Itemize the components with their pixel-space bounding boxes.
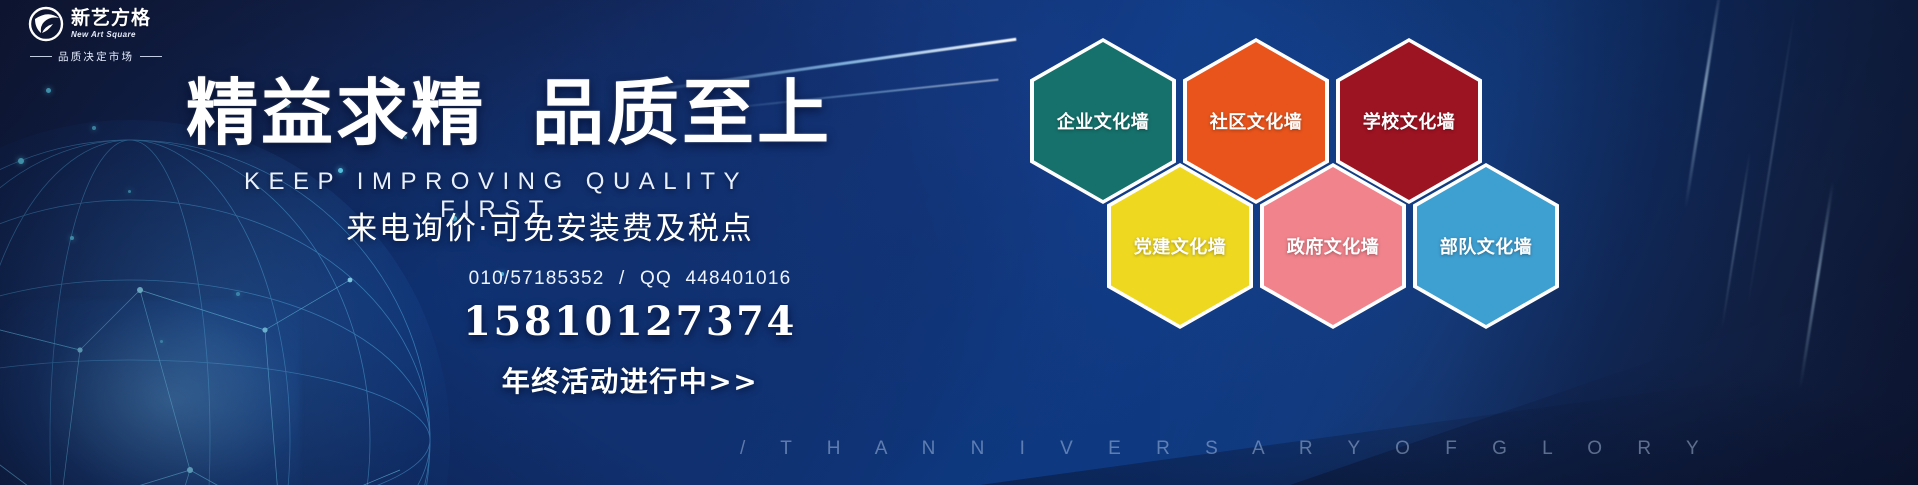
mobile-number: 15810127374: [400, 298, 860, 345]
contact-line: 010/57185352 / QQ 448401016: [400, 268, 860, 290]
brand-name-en: New Art Square: [71, 30, 151, 39]
headline: 精益求精 品质至上: [186, 77, 832, 149]
headline-part-1: 精益求精: [186, 77, 486, 149]
brand-logo[interactable]: 新艺方格 New Art Square 品质决定市场: [28, 6, 178, 64]
light-streak: [1747, 12, 1796, 309]
light-streak: [1799, 181, 1835, 389]
category-label: 企业文化墙: [1057, 108, 1150, 134]
tagline-rule-right: [140, 56, 162, 57]
promo-banner: 新艺方格 New Art Square 品质决定市场 精益求精 品质至上 KEE…: [0, 0, 1918, 485]
globe-swoosh-logo-icon: [28, 6, 64, 42]
brand-tagline: 品质决定市场: [28, 49, 178, 64]
tagline-text: 品质决定市场: [58, 49, 134, 64]
headline-subtitle-cn: 来电询价·可免安装费及税点: [300, 203, 800, 248]
qq-label: QQ: [640, 268, 672, 289]
category-label: 社区文化墙: [1210, 108, 1303, 134]
qq-number: 448401016: [685, 268, 791, 289]
light-streak: [1684, 0, 1723, 209]
tagline-rule-left: [30, 56, 52, 57]
category-label: 政府文化墙: [1287, 233, 1380, 259]
category-label: 部队文化墙: [1440, 233, 1533, 259]
category-label: 学校文化墙: [1363, 108, 1456, 134]
landline-number: 010/57185352: [469, 268, 605, 289]
contact-separator: /: [619, 268, 625, 289]
headline-part-2: 品质至上: [532, 77, 832, 149]
brand-name-cn: 新艺方格: [71, 9, 151, 29]
category-label: 党建文化墙: [1134, 233, 1227, 259]
cta-text[interactable]: 年终活动进行中>>: [400, 360, 860, 400]
anniversary-text: / T H A N N I V E R S A R Y O F G L O R …: [740, 438, 1880, 460]
category-hex-grid: 企业文化墙 社区文化墙 学校文化墙 党建文化墙 政府文化墙 部队文化墙: [1030, 38, 1630, 328]
